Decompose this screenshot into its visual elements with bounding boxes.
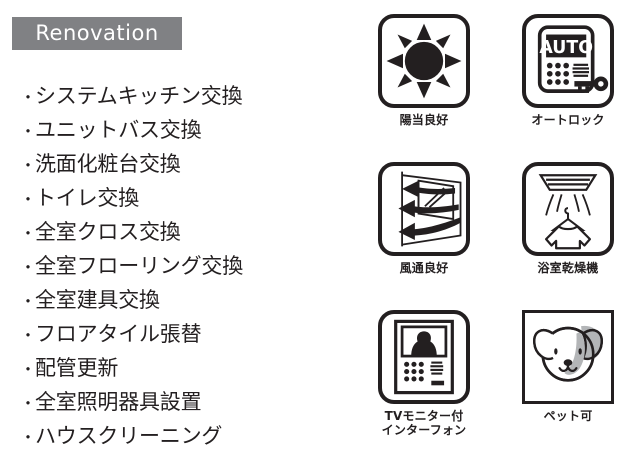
bullet-icon: ・ — [20, 251, 35, 285]
feature-icon-sun: 陽当良好 — [352, 14, 496, 127]
bullet-icon: ・ — [20, 353, 35, 387]
sun-icon — [378, 14, 470, 108]
list-item-label: システムキッチン交換 — [35, 79, 242, 113]
ventilation-window-icon — [378, 162, 470, 256]
bullet-icon: ・ — [20, 217, 35, 251]
list-item-label: 全室建具交換 — [35, 283, 160, 317]
feature-icon-label: オートロック — [496, 113, 640, 127]
list-item-label: 全室フローリング交換 — [35, 249, 243, 283]
auto-lock-display-text: AUTO — [539, 38, 593, 58]
feature-icon-ventilation: 風通良好 — [352, 162, 496, 275]
feature-icon-grid: 陽当良好 AUTO — [352, 14, 640, 463]
list-item-label: ユニットバス交換 — [35, 113, 201, 147]
list-item-label: 全室クロス交換 — [35, 215, 181, 249]
bullet-icon: ・ — [20, 421, 35, 455]
list-item: ・ ハウスクリーニング — [20, 419, 340, 453]
feature-icon-label: 浴室乾燥機 — [496, 261, 640, 275]
feature-icon-label: ペット可 — [496, 409, 640, 423]
list-item-label: 全室照明器具設置 — [35, 385, 201, 419]
bullet-icon: ・ — [20, 115, 35, 149]
bullet-icon: ・ — [20, 387, 35, 421]
feature-icon-auto-lock: AUTO — [496, 14, 640, 127]
list-item: ・ 全室フローリング交換 — [20, 249, 340, 283]
section-banner: Renovation — [12, 17, 182, 50]
feature-icon-bathroom-dryer: 浴室乾燥機 — [496, 162, 640, 275]
bullet-icon: ・ — [20, 149, 35, 183]
list-item-label: 洗面化粧台交換 — [35, 147, 181, 181]
list-item: ・ トイレ交換 — [20, 181, 340, 215]
list-item: ・ 洗面化粧台交換 — [20, 147, 340, 181]
bullet-icon: ・ — [20, 183, 35, 217]
list-item: ・ フロアタイル張替 — [20, 317, 340, 351]
list-item: ・ 全室照明器具設置 — [20, 385, 340, 419]
list-item: ・ 全室建具交換 — [20, 283, 340, 317]
list-item: ・ 配管更新 — [20, 351, 340, 385]
list-item: ・ システムキッチン交換 — [20, 79, 340, 113]
renovation-item-list: ・ システムキッチン交換 ・ ユニットバス交換 ・ 洗面化粧台交換 ・ トイレ交… — [20, 79, 340, 453]
renovation-section: Renovation ・ システムキッチン交換 ・ ユニットバス交換 ・ 洗面化… — [0, 0, 345, 463]
bathroom-dryer-icon — [522, 162, 614, 256]
tv-monitor-intercom-icon — [378, 310, 470, 404]
page-title: Renovation — [35, 23, 158, 44]
bullet-icon: ・ — [20, 285, 35, 319]
feature-icon-tv-intercom: TVモニター付 インターフォン — [352, 310, 496, 437]
list-item: ・ ユニットバス交換 — [20, 113, 340, 147]
list-item-label: フロアタイル張替 — [35, 317, 201, 351]
feature-icon-pet-allowed: ペット可 ペット可 — [496, 310, 640, 423]
pet-allowed-dog-icon: ペット可 — [522, 310, 614, 404]
bullet-icon: ・ — [20, 319, 35, 353]
feature-icon-label: 陽当良好 — [352, 113, 496, 127]
feature-icon-label: 風通良好 — [352, 261, 496, 275]
feature-icon-label: TVモニター付 インターフォン — [352, 409, 496, 437]
list-item: ・ 全室クロス交換 — [20, 215, 340, 249]
list-item-label: ハウスクリーニング — [35, 419, 222, 453]
auto-lock-icon: AUTO — [522, 14, 614, 108]
bullet-icon: ・ — [20, 81, 35, 115]
list-item-label: 配管更新 — [35, 351, 118, 385]
list-item-label: トイレ交換 — [35, 181, 139, 215]
